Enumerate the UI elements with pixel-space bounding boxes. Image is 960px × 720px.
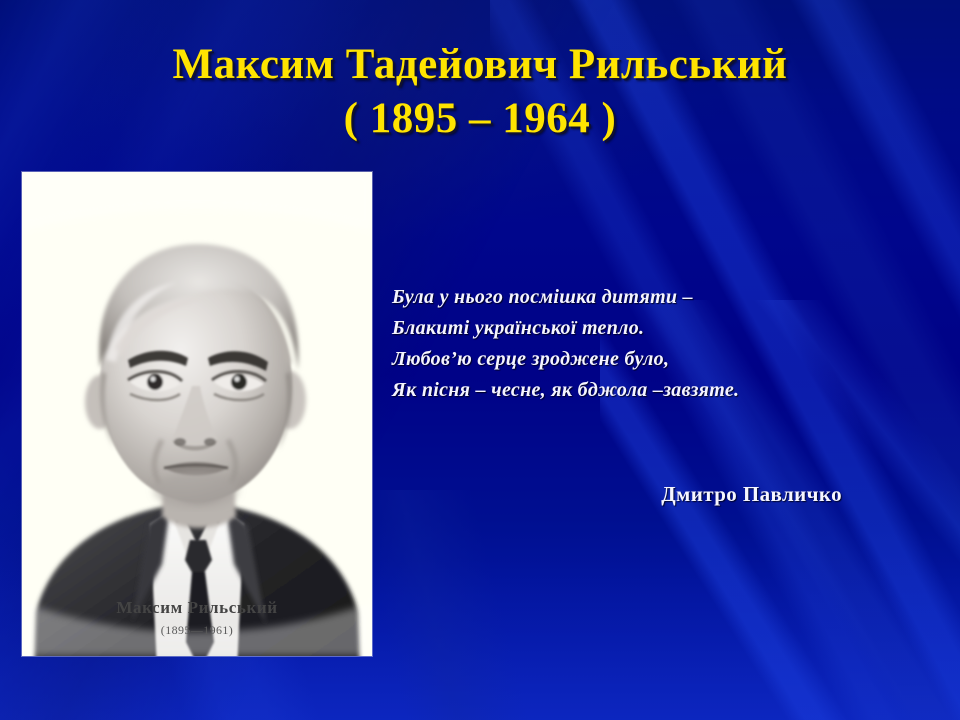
poem-author: Дмитро Павличко [392,482,842,507]
portrait-caption-dates: (1895—1961) [22,623,372,638]
portrait-caption-name: Максим Рильський [22,598,372,618]
slide-title: Максим Тадейович Рильський ( 1895 – 1964… [0,38,960,146]
portrait-card: Максим Рильський (1895—1961) [22,172,372,656]
poem-line: Як пісня – чесне, як бджола –завзяте. [392,375,912,406]
poem-line: Блакиті української тепло. [392,313,912,344]
portrait-photo-icon [22,172,372,656]
title-dates-line: ( 1895 – 1964 ) [0,92,960,146]
poem-line: Любов’ю серце зроджене було, [392,344,912,375]
title-name-line: Максим Тадейович Рильський [0,38,960,92]
presentation-slide: Максим Тадейович Рильський ( 1895 – 1964… [0,0,960,720]
poem-line: Була у нього посмішка дитяти – [392,282,912,313]
poem-quote: Була у нього посмішка дитяти – Блакиті у… [392,282,912,406]
portrait-caption: Максим Рильський (1895—1961) [22,598,372,638]
